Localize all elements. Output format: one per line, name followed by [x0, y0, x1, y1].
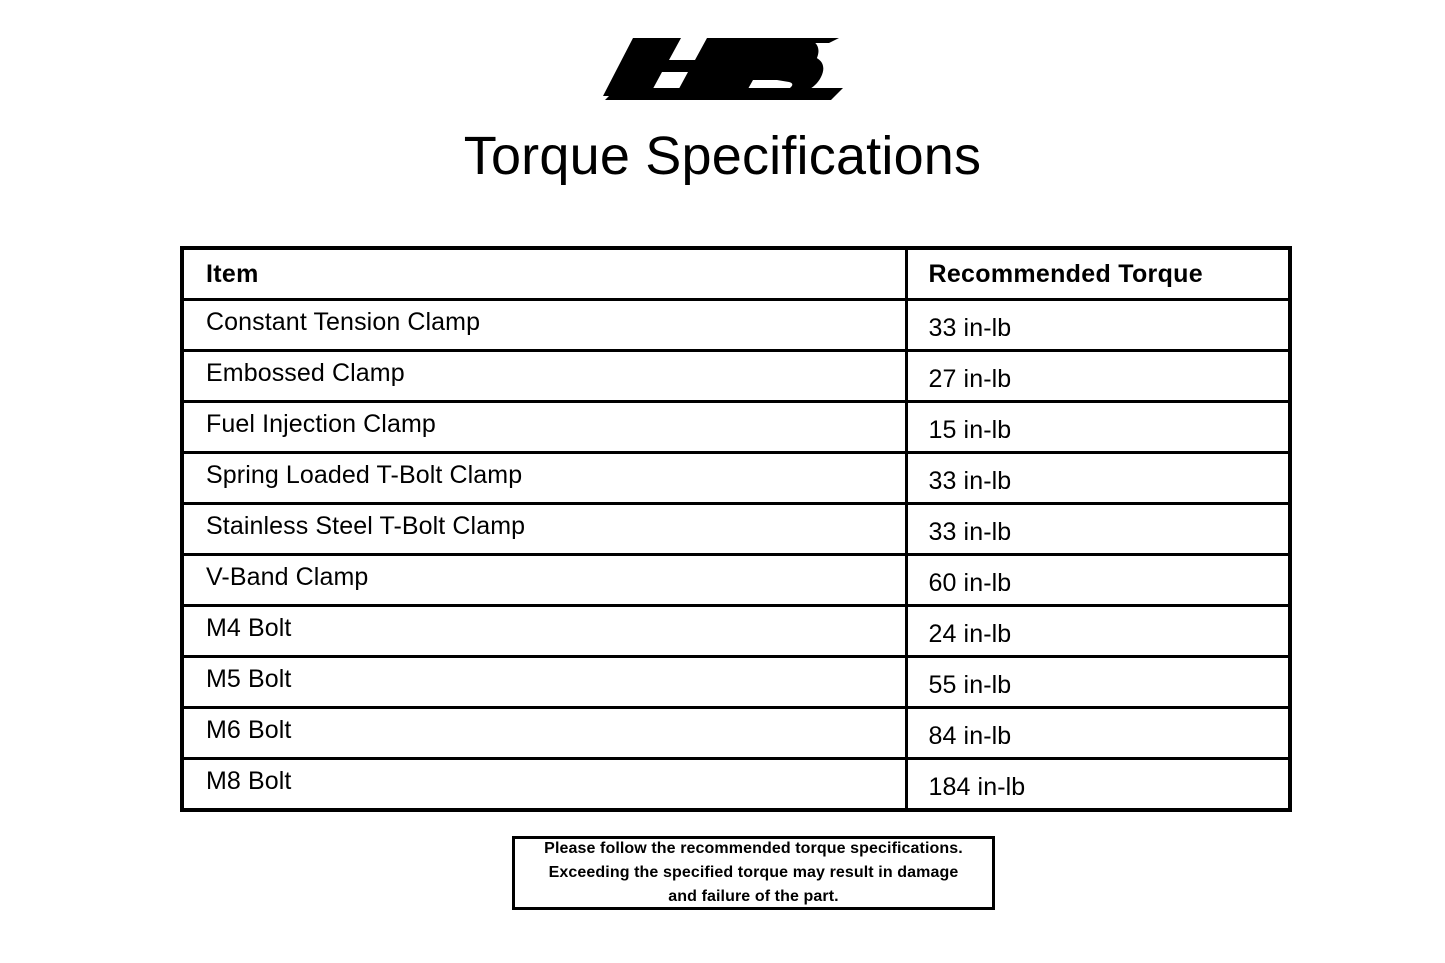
cell-item-label: M5 Bolt: [184, 665, 905, 694]
column-header-item-label: Item: [184, 260, 905, 289]
page-title: Torque Specifications: [0, 128, 1445, 185]
cell-item-label: Stainless Steel T-Bolt Clamp: [184, 512, 905, 541]
brand-logo: [0, 34, 1445, 110]
cell-torque-value: 33 in-lb: [908, 314, 1289, 343]
cell-torque-value: 84 in-lb: [908, 722, 1289, 751]
table-row: M8 Bolt184 in-lb: [182, 759, 1290, 811]
table-header-row: Item Recommended Torque: [182, 248, 1290, 300]
cell-item: V-Band Clamp: [182, 555, 906, 606]
cell-torque: 27 in-lb: [906, 351, 1290, 402]
cell-item: Fuel Injection Clamp: [182, 402, 906, 453]
table-row: Fuel Injection Clamp15 in-lb: [182, 402, 1290, 453]
cell-torque-value: 55 in-lb: [908, 671, 1289, 700]
column-header-recommended-torque-label: Recommended Torque: [908, 260, 1289, 289]
hps-wordmark-logo: [603, 34, 843, 100]
cell-item: Embossed Clamp: [182, 351, 906, 402]
cell-torque-value: 184 in-lb: [908, 773, 1289, 802]
cell-item: M8 Bolt: [182, 759, 906, 811]
cell-torque-value: 33 in-lb: [908, 467, 1289, 496]
column-header-recommended-torque: Recommended Torque: [906, 248, 1290, 300]
cell-item-label: M4 Bolt: [184, 614, 905, 643]
cell-torque: 33 in-lb: [906, 300, 1290, 351]
cell-torque: 15 in-lb: [906, 402, 1290, 453]
column-header-item: Item: [182, 248, 906, 300]
cell-torque: 84 in-lb: [906, 708, 1290, 759]
table-row: V-Band Clamp60 in-lb: [182, 555, 1290, 606]
cell-torque-value: 27 in-lb: [908, 365, 1289, 394]
table-row: Constant Tension Clamp33 in-lb: [182, 300, 1290, 351]
table-row: Stainless Steel T-Bolt Clamp33 in-lb: [182, 504, 1290, 555]
cell-item: Stainless Steel T-Bolt Clamp: [182, 504, 906, 555]
cell-torque-value: 60 in-lb: [908, 569, 1289, 598]
cell-torque: 60 in-lb: [906, 555, 1290, 606]
torque-specifications-table: Item Recommended Torque Constant Tension…: [180, 246, 1288, 812]
cell-item: Constant Tension Clamp: [182, 300, 906, 351]
table-row: Spring Loaded T-Bolt Clamp33 in-lb: [182, 453, 1290, 504]
disclaimer-box: Please follow the recommended torque spe…: [512, 836, 995, 910]
cell-item-label: Embossed Clamp: [184, 359, 905, 388]
table-row: M6 Bolt84 in-lb: [182, 708, 1290, 759]
table-row: Embossed Clamp27 in-lb: [182, 351, 1290, 402]
cell-torque: 33 in-lb: [906, 453, 1290, 504]
cell-torque-value: 15 in-lb: [908, 416, 1289, 445]
cell-item: Spring Loaded T-Bolt Clamp: [182, 453, 906, 504]
cell-torque-value: 24 in-lb: [908, 620, 1289, 649]
table-row: M4 Bolt24 in-lb: [182, 606, 1290, 657]
cell-item-label: Spring Loaded T-Bolt Clamp: [184, 461, 905, 490]
cell-torque: 24 in-lb: [906, 606, 1290, 657]
cell-item: M6 Bolt: [182, 708, 906, 759]
cell-torque: 184 in-lb: [906, 759, 1290, 811]
cell-item-label: Constant Tension Clamp: [184, 308, 905, 337]
table-row: M5 Bolt55 in-lb: [182, 657, 1290, 708]
cell-torque-value: 33 in-lb: [908, 518, 1289, 547]
disclaimer-text: Please follow the recommended torque spe…: [534, 837, 973, 909]
cell-item-label: V-Band Clamp: [184, 563, 905, 592]
cell-torque: 55 in-lb: [906, 657, 1290, 708]
cell-item-label: M8 Bolt: [184, 767, 905, 796]
cell-item: M5 Bolt: [182, 657, 906, 708]
cell-item: M4 Bolt: [182, 606, 906, 657]
cell-item-label: M6 Bolt: [184, 716, 905, 745]
cell-torque: 33 in-lb: [906, 504, 1290, 555]
cell-item-label: Fuel Injection Clamp: [184, 410, 905, 439]
